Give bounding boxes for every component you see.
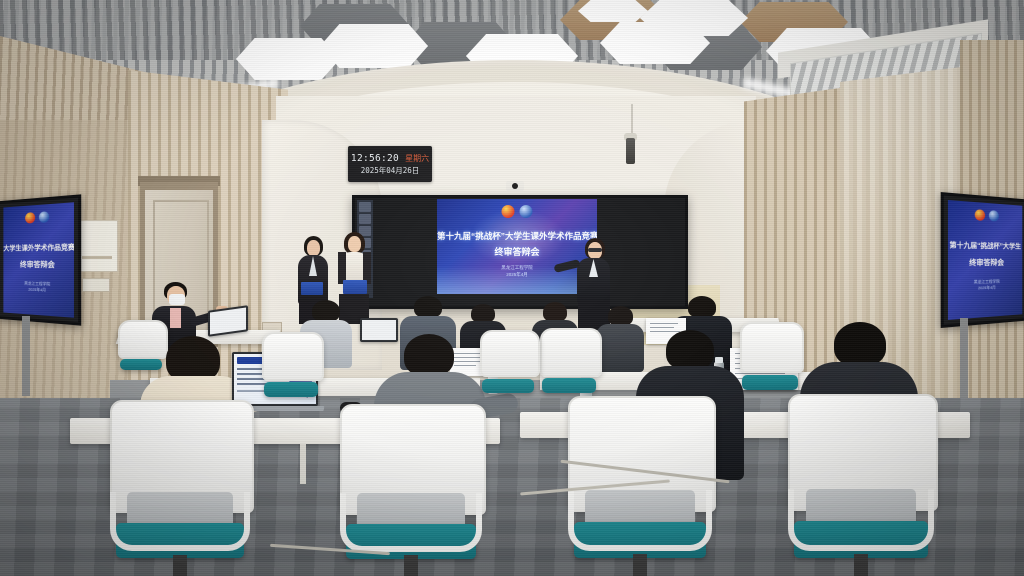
side-right-title-line1: 第十九届“挑战杯”大学生 <box>948 240 1022 251</box>
clock-time-row: 12:56:20 星期六 <box>351 153 429 164</box>
rail-thumb[interactable] <box>359 214 371 224</box>
chair-foreground-4[interactable] <box>788 394 934 576</box>
judge-m2-hair <box>414 296 442 318</box>
side-left-title-line2: 终审答辩会 <box>3 259 74 271</box>
judge-fl-shirt <box>170 308 181 328</box>
clock-date: 2025年04月26日 <box>361 165 420 176</box>
clock-time: 12:56:20 <box>351 153 399 164</box>
chair-seat <box>542 378 595 392</box>
chair-mid-4[interactable] <box>740 322 800 398</box>
face-mask-icon <box>169 294 185 305</box>
wall-light-switch[interactable] <box>82 278 110 292</box>
doc-line <box>650 327 674 328</box>
host-1-folder <box>301 282 323 295</box>
doc-line <box>650 323 678 324</box>
side-display-left[interactable]: 大学生课外学术作品竞赛 终审答辩会 黑龙江工程学院 2025年4月 <box>0 194 81 325</box>
side-left-subtitle-date: 2025年4月 <box>3 286 74 295</box>
chair-backrest <box>262 332 324 381</box>
table-leg <box>300 444 306 484</box>
judge-m6-hair <box>608 306 633 326</box>
competition-emblem-icon <box>502 205 515 218</box>
judge-m5-hair <box>688 296 716 318</box>
competition-emblem-icon <box>25 212 35 223</box>
attendee-nr2-hair <box>834 322 886 366</box>
chair-armrest[interactable] <box>110 492 250 552</box>
clock-weekday: 星期六 <box>405 153 429 164</box>
chair-backrest <box>740 322 804 373</box>
ceiling-light-hexagon <box>236 38 340 80</box>
chair-armrest[interactable] <box>340 493 482 551</box>
side-right-logo-group <box>975 209 999 221</box>
chair-backrest <box>480 330 540 377</box>
chair-armrest[interactable] <box>788 489 934 551</box>
side-left-logo-group <box>25 211 49 223</box>
ceiling-light-hexagon <box>578 0 648 22</box>
chair-mid-3[interactable] <box>480 330 536 400</box>
chair-gas-lift <box>854 554 869 576</box>
ceiling-light-hexagon <box>640 0 748 36</box>
university-emblem-icon <box>520 205 533 218</box>
side-right-subtitle: 黑龙江工程学院 2025年4月 <box>948 278 1022 293</box>
attendee-nc-hair <box>404 334 454 376</box>
slide-logo-group <box>502 205 533 218</box>
chair-seat <box>742 375 797 390</box>
chair-mid-1[interactable] <box>262 332 320 404</box>
university-emblem-icon <box>39 211 49 223</box>
ceiling-microphone <box>626 138 635 164</box>
chair-backrest <box>540 328 602 377</box>
host-1-head <box>307 240 320 256</box>
side-right-title-line2: 终审答辩会 <box>948 257 1022 269</box>
digital-wall-clock: 12:56:20 星期六 2025年04月26日 <box>348 146 432 182</box>
chair-mid-2[interactable] <box>540 328 598 400</box>
side-left-title-line1: 大学生课外学术作品竞赛 <box>3 242 74 253</box>
attendee-nr1-hair <box>666 330 714 370</box>
chair-seat <box>482 379 534 393</box>
side-display-left-slide: 大学生课外学术作品竞赛 终审答辩会 黑龙江工程学院 2025年4月 <box>3 202 74 317</box>
rail-thumb[interactable] <box>359 202 371 212</box>
chair-armrest[interactable] <box>568 490 712 551</box>
university-emblem-icon <box>989 210 999 221</box>
side-display-right[interactable]: 第十九届“挑战杯”大学生 终审答辩会 黑龙江工程学院 2025年4月 <box>941 192 1024 328</box>
camera-lens-icon <box>512 183 518 189</box>
wall-notice-line <box>82 256 112 259</box>
side-right-subtitle-date: 2025年4月 <box>948 284 1022 293</box>
host-2-folder <box>343 280 367 294</box>
presenter-glasses-icon <box>588 248 602 252</box>
chair-gas-lift <box>173 555 187 576</box>
side-display-left-stand <box>22 316 30 396</box>
judge-m1-hair <box>312 300 340 322</box>
side-left-subtitle: 黑龙江工程学院 2025年4月 <box>3 280 74 295</box>
conference-room-photo: 12:56:20 星期六 2025年04月26日 第十九届“挑战杯”大学生课外学… <box>0 0 1024 576</box>
judge-m4-hair <box>543 302 567 322</box>
chair-seat <box>264 382 317 396</box>
chair-gas-lift <box>404 555 418 576</box>
chair-foreground-1[interactable] <box>110 400 250 576</box>
laptop-screen <box>210 307 246 334</box>
side-display-right-slide: 第十九届“挑战杯”大学生 终审答辩会 黑龙江工程学院 2025年4月 <box>948 200 1022 320</box>
competition-emblem-icon <box>975 209 985 221</box>
chair-gas-lift <box>633 554 647 576</box>
host-2-head <box>348 236 361 252</box>
wall-notice-frame <box>78 220 118 272</box>
